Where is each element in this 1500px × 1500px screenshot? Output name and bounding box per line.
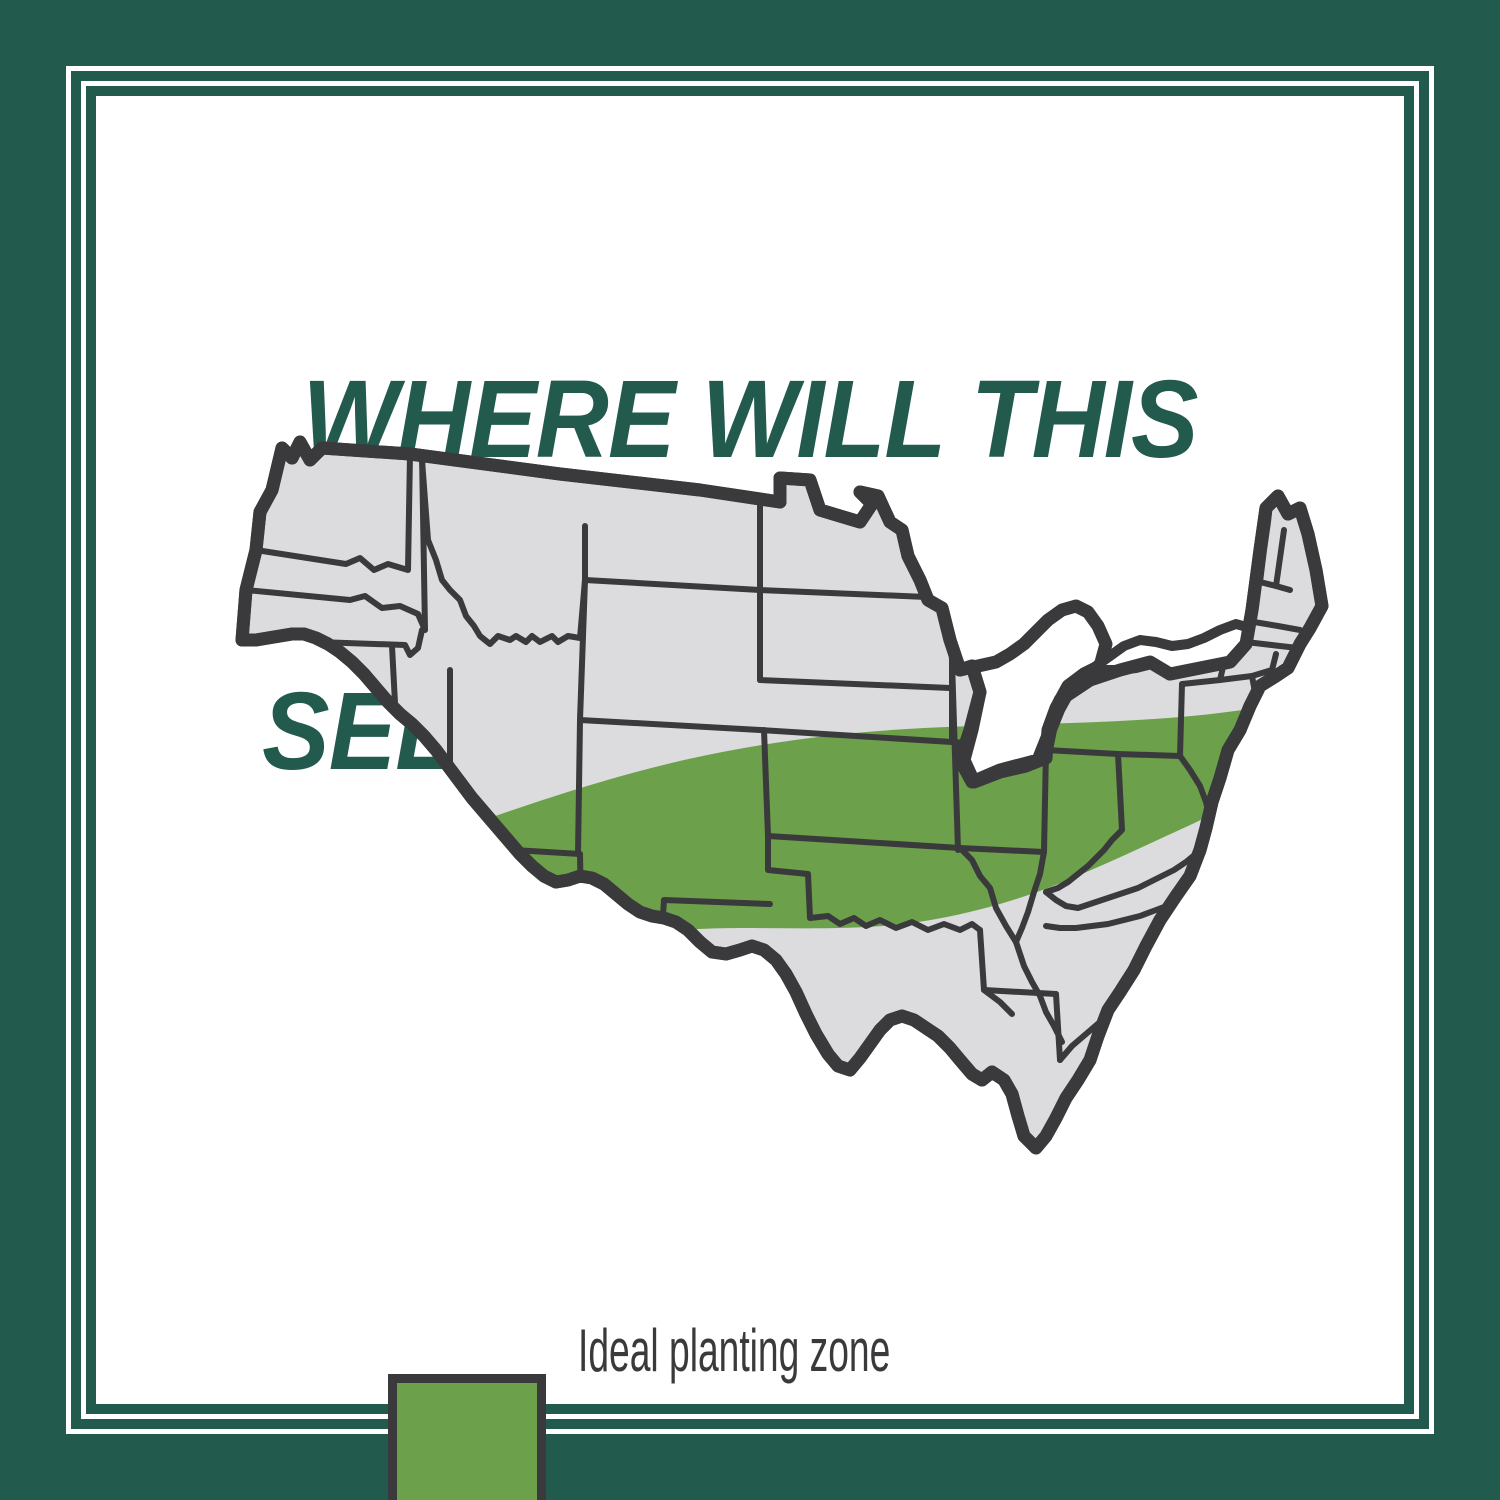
us-map-svg	[160, 430, 1345, 1160]
legend: Ideal planting zone in highlighted area	[388, 1186, 1082, 1500]
legend-color-swatch	[388, 1374, 546, 1500]
legend-label: Ideal planting zone in highlighted area	[578, 1186, 890, 1500]
us-map	[160, 430, 1345, 1160]
poster-root: WHERE WILL THIS SEED GROW BEST?	[0, 0, 1500, 1500]
legend-label-line-1: Ideal planting zone	[578, 1318, 890, 1384]
